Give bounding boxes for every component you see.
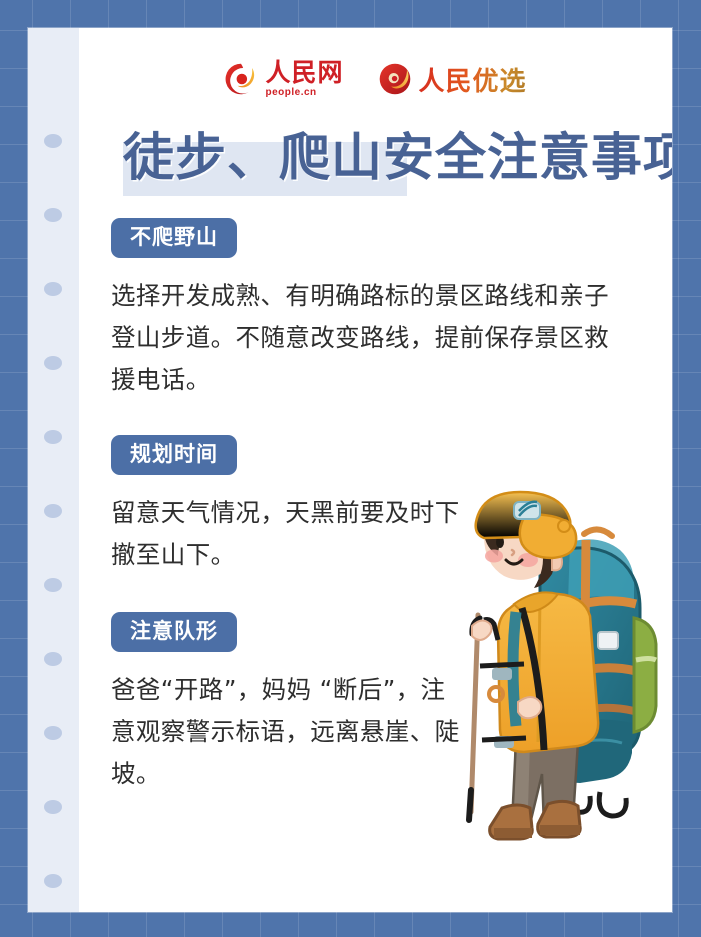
binder-hole [44,504,62,518]
section-body: 爸爸“开路”，妈妈 “断后”，注意观察警示标语，远离悬崖、陡坡。 [111,669,461,795]
binder-hole [44,726,62,740]
people-cn-logo-sub: people.cn [265,88,343,98]
section-bu-pa-ye-shan: 不爬野山 选择开发成熟、有明确路标的景区路线和亲子登山步道。不随意改变路线，提前… [79,218,672,401]
binder-hole [44,578,62,592]
binder-hole [44,282,62,296]
binder-margin-strip [28,28,79,912]
notebook-card: 人民网 people.cn [28,28,672,912]
boy-hiker-with-backpack-illustration [458,490,672,865]
binder-hole [44,430,62,444]
section-badge: 不爬野山 [111,218,237,258]
binder-hole [44,874,62,888]
binder-hole [44,652,62,666]
section-body: 留意天气情况，天黑前要及时下撤至山下。 [111,492,471,576]
people-cn-logo: 人民网 people.cn [224,60,343,98]
people-youxuan-logo-cn: 人民优选 [419,61,527,98]
binder-hole [44,800,62,814]
red-swirl-globe-icon [224,62,258,96]
people-youxuan-logo: 人民优选 [378,61,527,98]
people-cn-logo-cn: 人民网 [265,60,343,85]
binder-hole [44,134,62,148]
section-body: 选择开发成熟、有明确路标的景区路线和亲子登山步道。不随意改变路线，提前保存景区救… [111,275,631,401]
logo-row: 人民网 people.cn [79,50,672,108]
section-badge: 规划时间 [111,435,237,475]
section-badge: 注意队形 [111,612,237,652]
binder-hole [44,208,62,222]
binder-hole [44,356,62,370]
poster-root: 人民网 people.cn [0,0,701,937]
page-title-wrap: 徒步、爬山安全注意事项 [79,124,672,198]
page-title: 徒步、爬山安全注意事项 [123,124,672,194]
red-gold-swirl-globe-icon [378,62,412,96]
people-cn-logo-text: 人民网 people.cn [265,60,343,98]
